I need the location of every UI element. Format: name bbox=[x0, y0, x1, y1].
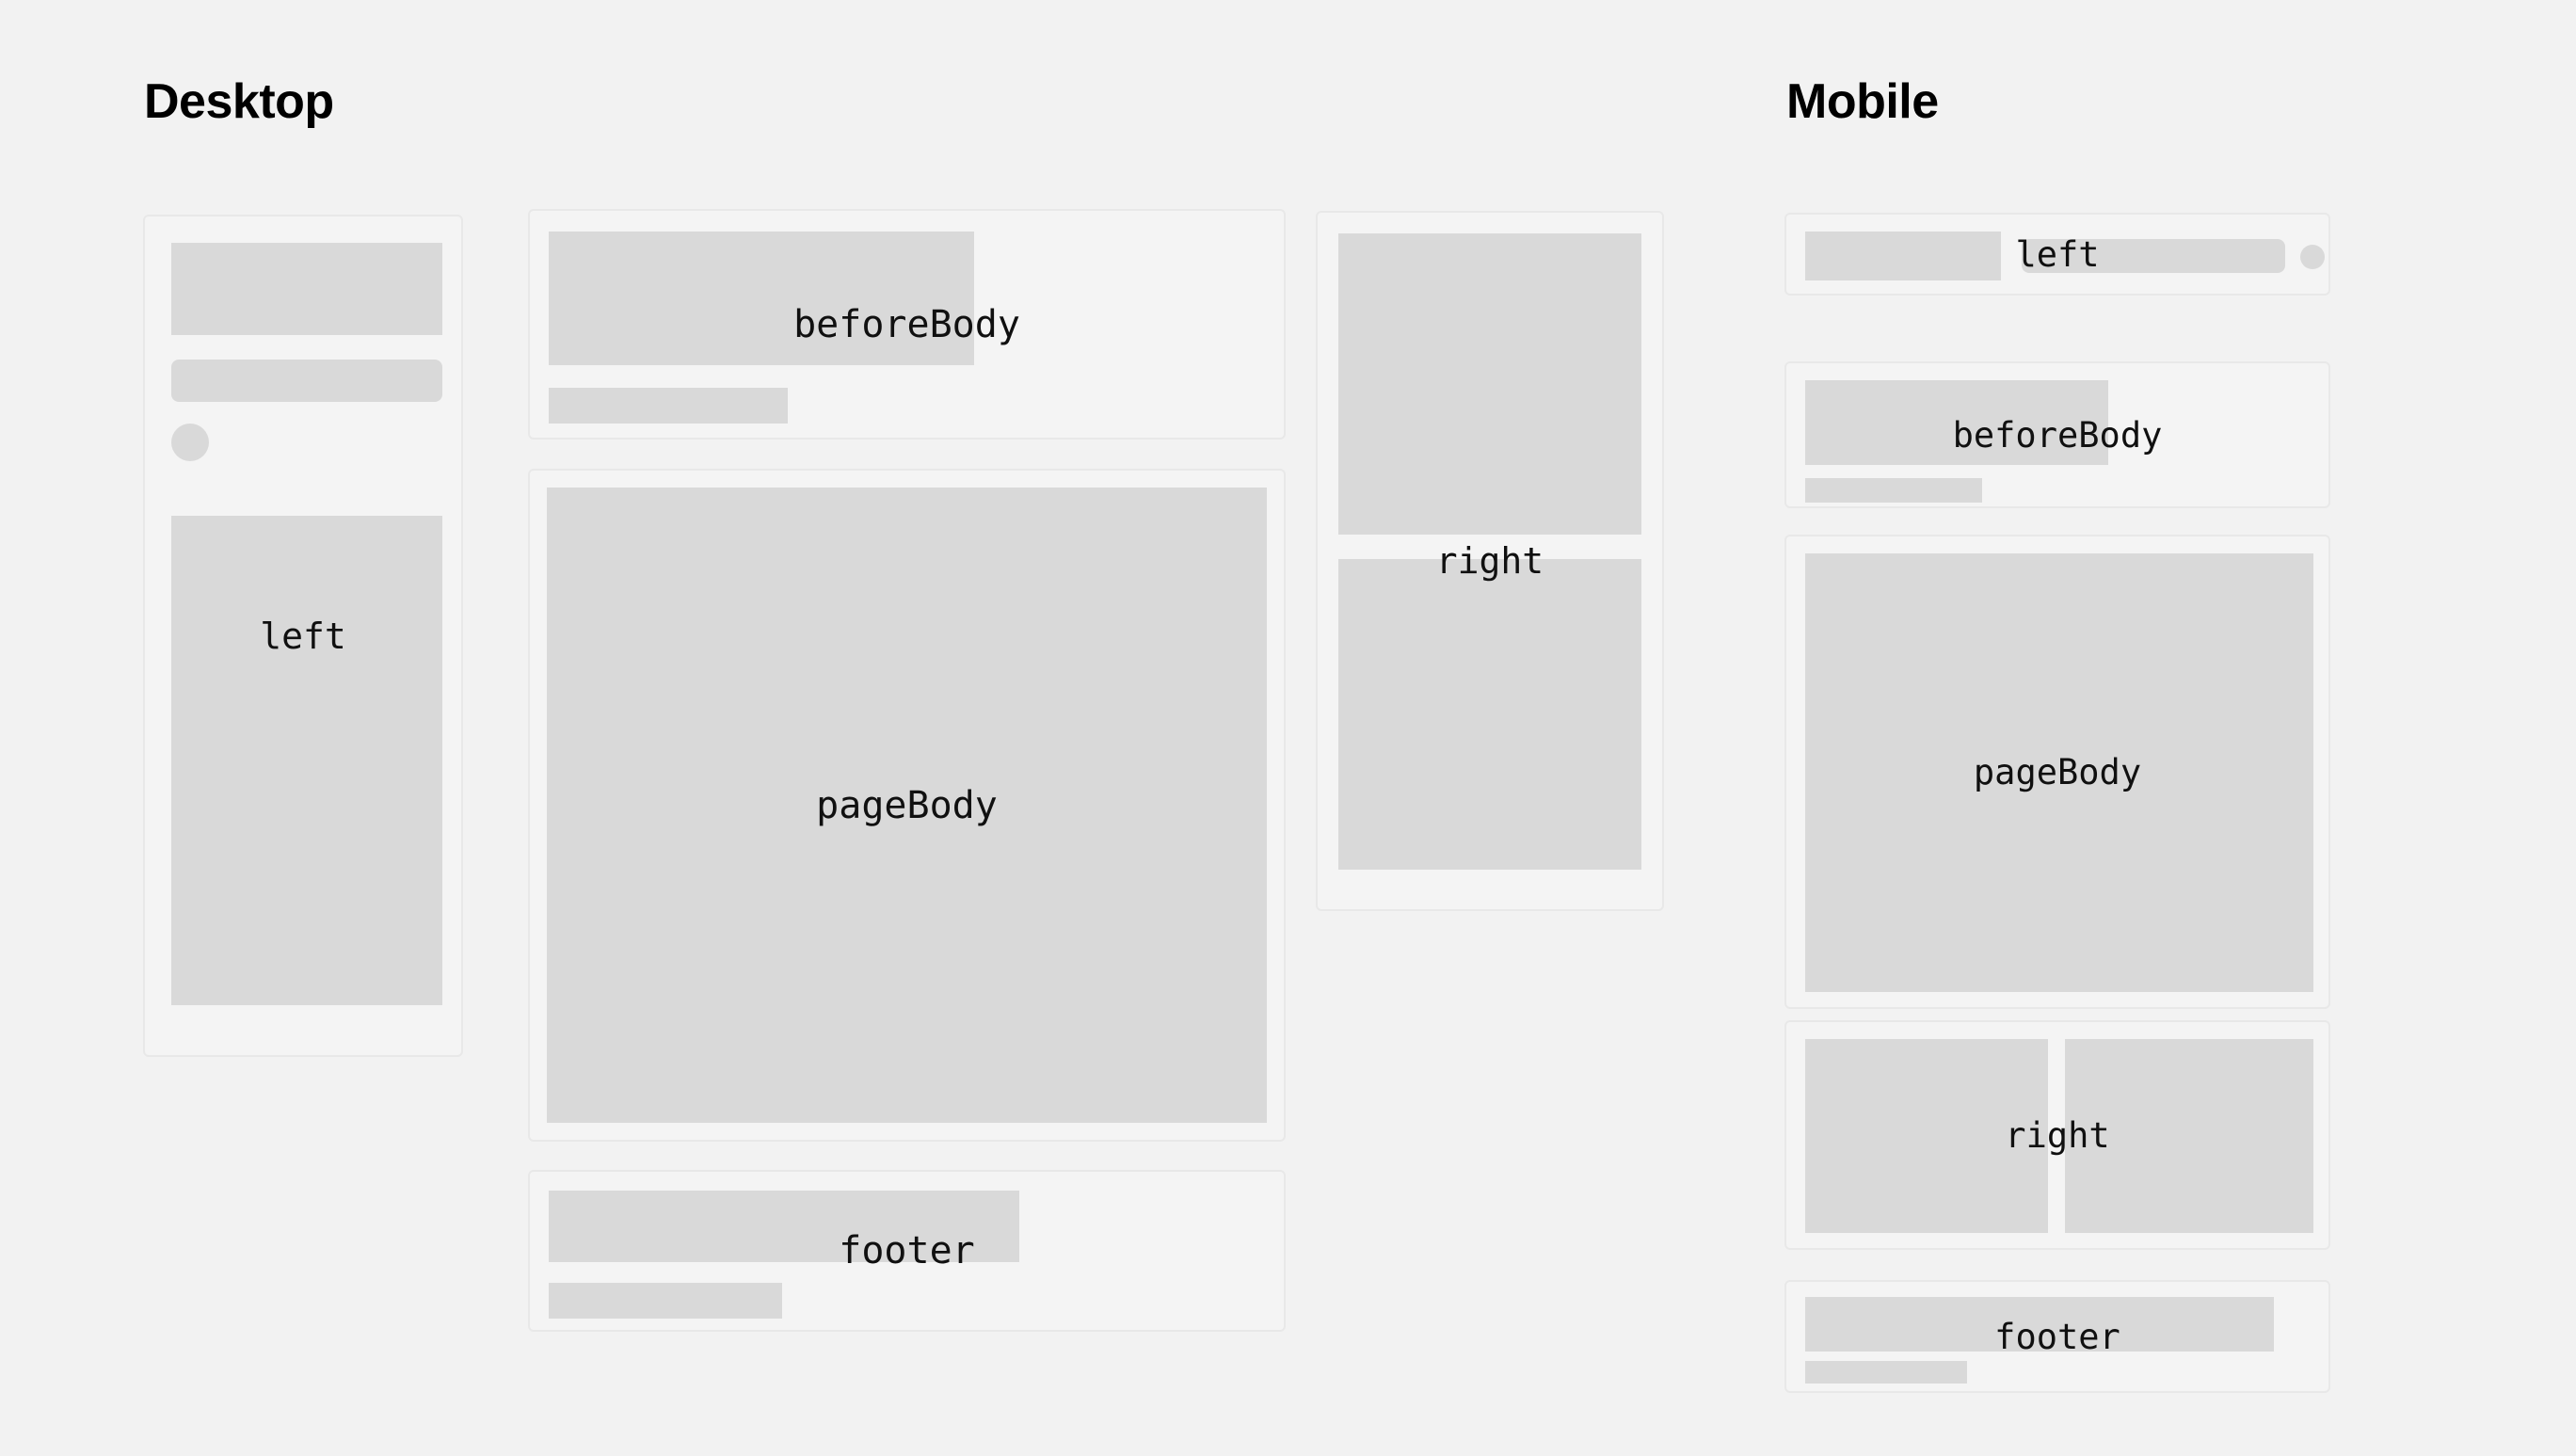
desktop-region-right[interactable] bbox=[1316, 211, 1664, 911]
skeleton-block-dot bbox=[2300, 245, 2325, 269]
skeleton-block-short-bar bbox=[1805, 478, 1982, 503]
skeleton-block-short-bar bbox=[549, 1283, 782, 1319]
skeleton-block-wide bbox=[549, 1191, 1019, 1262]
mobile-region-left[interactable] bbox=[1784, 213, 2330, 296]
skeleton-block-upper bbox=[1338, 233, 1641, 535]
layout-preview-canvas: Desktop Mobile left beforeBody pageBody … bbox=[0, 0, 2576, 1456]
skeleton-block-wide bbox=[1805, 1297, 2274, 1352]
mobile-region-pagebody[interactable] bbox=[1784, 535, 2330, 1009]
skeleton-block-large bbox=[1805, 232, 2001, 280]
mobile-region-footer[interactable] bbox=[1784, 1280, 2330, 1393]
skeleton-block-large bbox=[171, 243, 442, 335]
skeleton-block-left-half bbox=[1805, 1039, 2048, 1233]
mobile-region-beforebody[interactable] bbox=[1784, 361, 2330, 508]
desktop-region-footer[interactable] bbox=[528, 1170, 1286, 1332]
skeleton-block-bar-rounded bbox=[171, 360, 442, 402]
skeleton-block-bar-rounded bbox=[2022, 239, 2285, 273]
skeleton-block-wide bbox=[1805, 380, 2108, 465]
skeleton-block-short-bar bbox=[1805, 1361, 1967, 1384]
skeleton-block-short-bar bbox=[549, 388, 788, 424]
skeleton-block-right-half bbox=[2065, 1039, 2313, 1233]
mobile-region-right[interactable] bbox=[1784, 1020, 2330, 1250]
skeleton-block-lower bbox=[1338, 559, 1641, 870]
desktop-region-beforebody[interactable] bbox=[528, 209, 1286, 440]
desktop-column-title: Desktop bbox=[144, 77, 334, 126]
skeleton-block-fill bbox=[547, 488, 1267, 1123]
skeleton-block-dot bbox=[171, 424, 209, 461]
mobile-column-title: Mobile bbox=[1786, 77, 1939, 126]
skeleton-block-tall bbox=[171, 516, 442, 1005]
skeleton-block-wide bbox=[549, 232, 974, 365]
desktop-region-pagebody[interactable] bbox=[528, 469, 1286, 1142]
desktop-region-left[interactable] bbox=[143, 215, 463, 1057]
skeleton-block-fill bbox=[1805, 553, 2313, 992]
